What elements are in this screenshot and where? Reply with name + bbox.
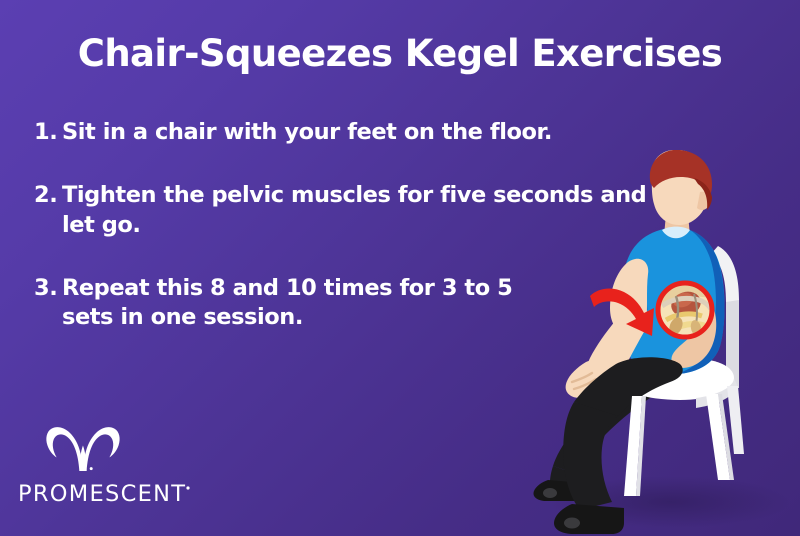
step-number: 1. [34,118,62,147]
page-title: Chair-Squeezes Kegel Exercises [0,33,800,76]
step-number: 3. [34,274,62,303]
brand-logo: PROMESCENT [18,414,198,512]
seated-man-illustration [520,150,800,536]
brand-wordmark-text: PROMESCENT [18,481,186,507]
infographic-canvas: Chair-Squeezes Kegel Exercises 1. Sit in… [0,0,800,536]
brand-wordmark: PROMESCENT [18,481,198,512]
chair-rear-leg [727,386,744,454]
trademark-mark [186,486,189,489]
head [650,150,712,225]
step-number: 2. [34,181,62,210]
promescent-ram-horns-icon [44,414,198,477]
list-item: 1. Sit in a chair with your feet on the … [34,118,654,147]
step-text: Sit in a chair with your feet on the flo… [62,118,654,147]
step-text: Repeat this 8 and 10 times for 3 to 5 se… [62,274,554,333]
